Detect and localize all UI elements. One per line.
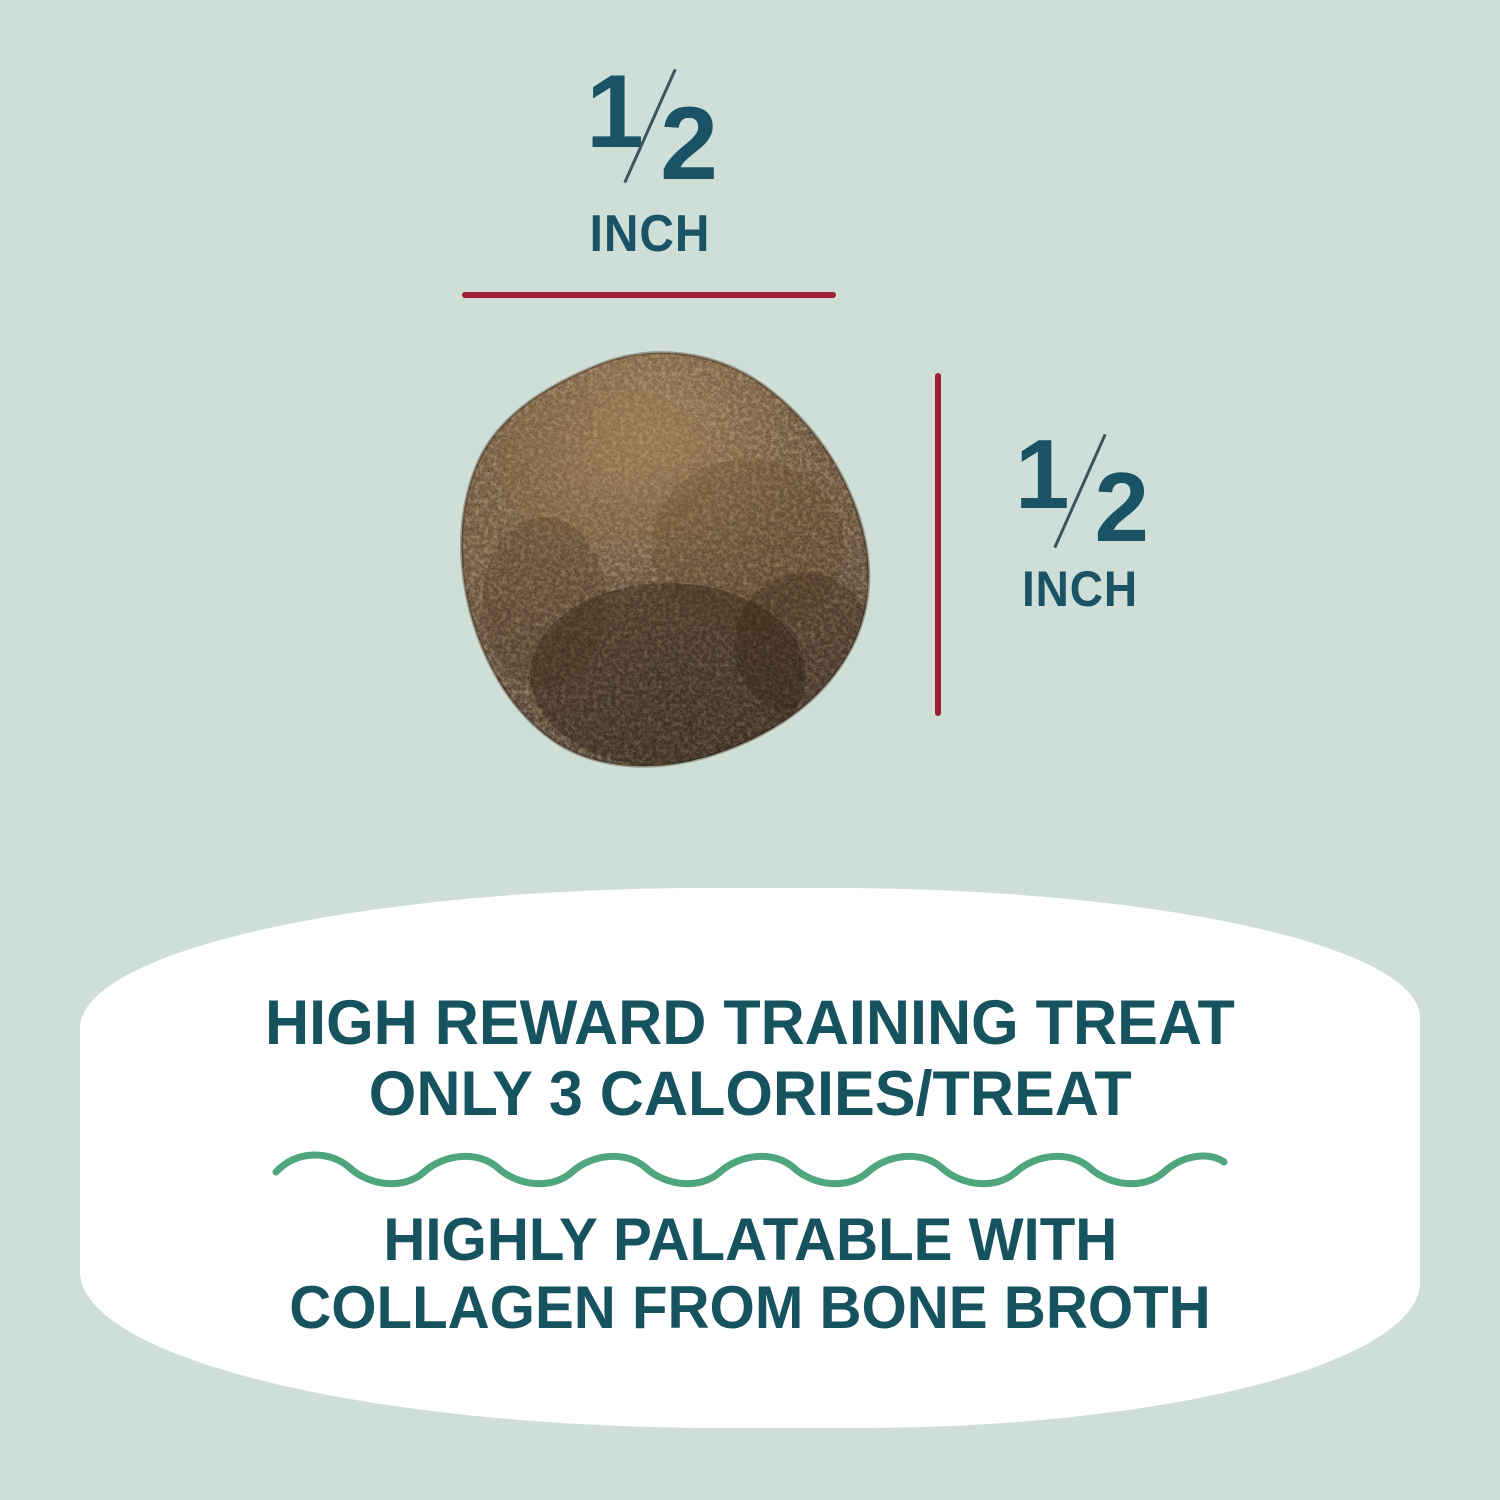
fraction-denominator: 2 bbox=[1094, 458, 1147, 556]
headline-line-1: HIGH REWARD TRAINING TREAT bbox=[265, 988, 1235, 1059]
width-unit-label: INCH bbox=[471, 208, 830, 260]
height-measurement-label: 1 2 INCH bbox=[975, 425, 1185, 614]
fraction-numerator: 1 bbox=[1015, 425, 1068, 523]
headline-line-2: ONLY 3 CALORIES/TREAT bbox=[369, 1059, 1132, 1130]
dog-treat-image bbox=[448, 345, 884, 773]
kibble-body bbox=[448, 345, 884, 773]
infographic-canvas: 1 2 INCH 1 2 INCH bbox=[0, 0, 1500, 1500]
fraction-one-half-height: 1 2 bbox=[1005, 425, 1155, 550]
subline-line-1: HIGHLY PALATABLE WITH bbox=[383, 1206, 1117, 1274]
horizontal-ruler-line bbox=[462, 292, 836, 298]
feature-callout-card: HIGH REWARD TRAINING TREAT ONLY 3 CALORI… bbox=[80, 888, 1420, 1428]
fraction-numerator: 1 bbox=[586, 60, 642, 164]
vertical-ruler-line bbox=[935, 373, 941, 716]
fraction-one-half-width: 1 2 bbox=[570, 60, 730, 190]
width-measurement-label: 1 2 INCH bbox=[455, 60, 845, 260]
fraction-denominator: 2 bbox=[660, 92, 716, 196]
height-unit-label: INCH bbox=[983, 564, 1176, 614]
wavy-divider-icon bbox=[270, 1146, 1230, 1192]
subline-line-2: COLLAGEN FROM BONE BROTH bbox=[289, 1274, 1210, 1342]
